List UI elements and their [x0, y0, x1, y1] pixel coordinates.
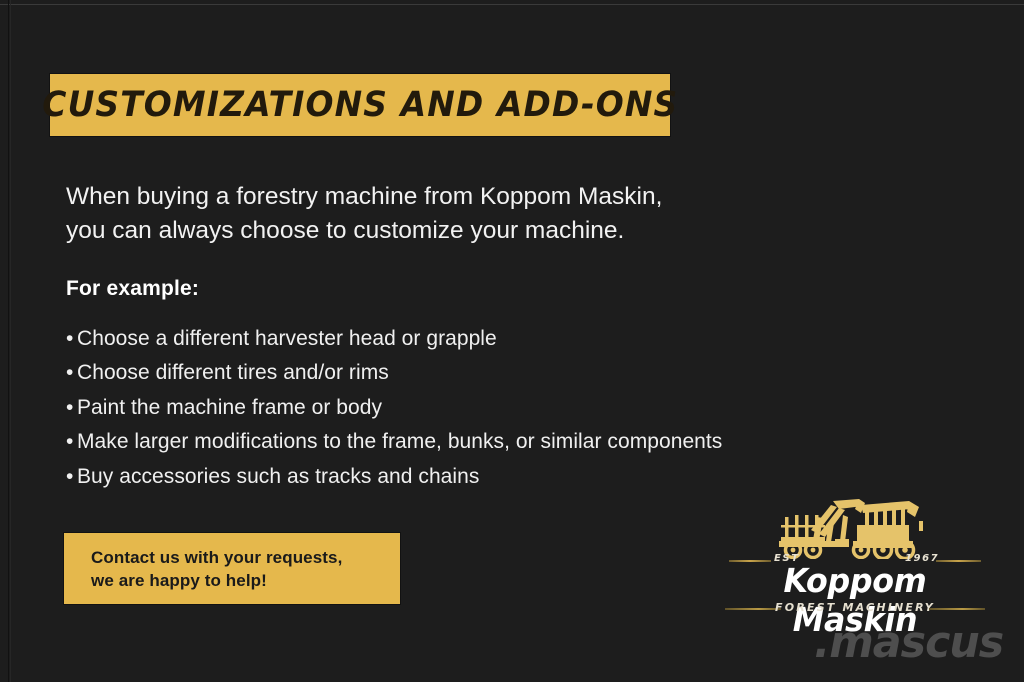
- for-example-subheading: For example:: [66, 277, 199, 301]
- list-item: •Paint the machine frame or body: [66, 391, 826, 425]
- list-item-label: Choose different tires and/or rims: [77, 361, 389, 384]
- left-edge-line-secondary: [10, 0, 11, 682]
- contact-line-1: Contact us with your requests,: [91, 546, 400, 569]
- customization-options-list: •Choose a different harvester head or gr…: [66, 322, 826, 494]
- list-item: •Make larger modifications to the frame,…: [66, 425, 826, 459]
- top-edge-line: [0, 4, 1024, 5]
- bullet-marker: •: [66, 356, 77, 390]
- list-item: •Choose different tires and/or rims: [66, 356, 826, 390]
- logo-tagline-rule-right: [929, 608, 985, 610]
- headline-banner: CUSTOMIZATIONS AND ADD-ONS: [50, 74, 670, 136]
- bullet-marker: •: [66, 425, 77, 459]
- list-item-label: Choose a different harvester head or gra…: [77, 327, 497, 350]
- bullet-marker: •: [66, 460, 77, 494]
- bullet-marker: •: [66, 322, 77, 356]
- list-item-label: Make larger modifications to the frame, …: [77, 430, 722, 453]
- contact-cta-box[interactable]: Contact us with your requests, we are ha…: [64, 533, 400, 604]
- logo-tagline-row: FOREST MACHINERY: [723, 601, 987, 615]
- contact-line-2: we are happy to help!: [91, 569, 400, 592]
- bullet-marker: •: [66, 391, 77, 425]
- list-item: •Buy accessories such as tracks and chai…: [66, 460, 826, 494]
- forestry-forwarder-icon: [773, 497, 941, 559]
- intro-line-2: you can always choose to customize your …: [66, 214, 786, 248]
- koppom-maskin-logo: EST 1967 Koppom Maskin FOREST MACHINERY: [723, 497, 987, 613]
- list-item: •Choose a different harvester head or gr…: [66, 322, 826, 356]
- intro-line-1: When buying a forestry machine from Kopp…: [66, 180, 786, 214]
- page-title: CUSTOMIZATIONS AND ADD-ONS: [42, 85, 678, 125]
- list-item-label: Buy accessories such as tracks and chain…: [77, 465, 479, 488]
- slide-canvas: CUSTOMIZATIONS AND ADD-ONS When buying a…: [0, 0, 1024, 682]
- intro-paragraph: When buying a forestry machine from Kopp…: [66, 180, 786, 248]
- list-item-label: Paint the machine frame or body: [77, 396, 382, 419]
- mascus-watermark: .mascus: [761, 619, 1004, 667]
- left-edge-line: [8, 0, 9, 682]
